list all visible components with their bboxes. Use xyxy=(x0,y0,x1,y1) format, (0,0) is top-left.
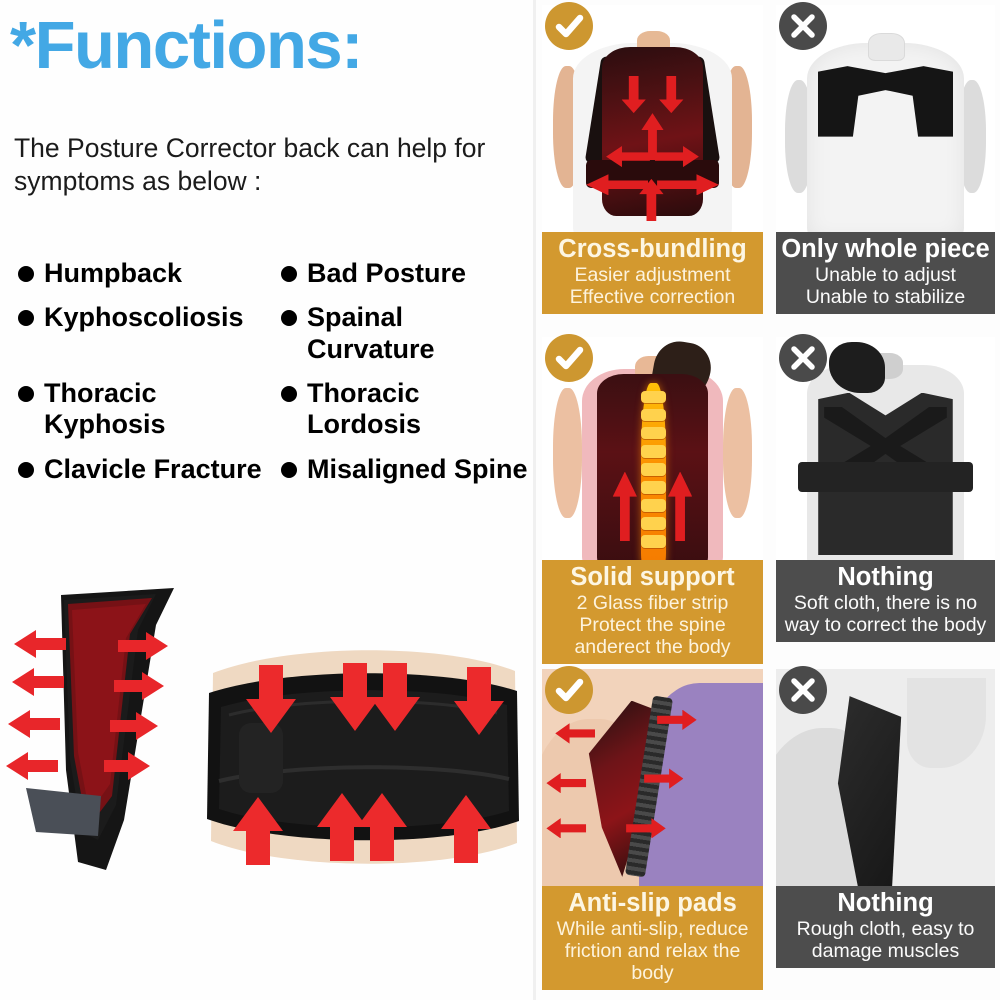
caption-title: Anti-slip pads xyxy=(546,889,759,918)
symptom-cell: Clavicle Fracture xyxy=(18,454,281,485)
panel-divider xyxy=(533,0,536,1000)
bullet-icon xyxy=(281,266,297,282)
symptom-label: Spainal Curvature xyxy=(307,302,538,365)
caption-title: Cross-bundling xyxy=(546,235,759,264)
comparison-row: Solid support 2 Glass fiber strip Protec… xyxy=(537,332,1000,664)
bullet-icon xyxy=(281,310,297,326)
caption-bad: Only whole piece Unable to adjust Unable… xyxy=(776,232,995,314)
comparison-cell-good: Cross-bundling Easier adjustment Effecti… xyxy=(537,0,768,332)
functions-panel: *Functions: The Posture Corrector back c… xyxy=(0,0,533,1000)
x-circle-icon xyxy=(779,334,827,382)
comparison-row: Cross-bundling Easier adjustment Effecti… xyxy=(537,0,1000,332)
product-image-lumbar-belt xyxy=(195,635,530,880)
bullet-icon xyxy=(18,310,34,326)
comparison-row: Anti-slip pads While anti-slip, reduce f… xyxy=(537,664,1000,1000)
comparison-cell-good: Anti-slip pads While anti-slip, reduce f… xyxy=(537,664,768,1000)
list-item: Clavicle Fracture Misaligned Spine xyxy=(18,454,538,485)
check-circle-icon xyxy=(545,334,593,382)
caption-subtext: Easier adjustment Effective correction xyxy=(546,264,759,308)
caption-good: Solid support 2 Glass fiber strip Protec… xyxy=(542,560,763,664)
symptom-cell: Kyphoscoliosis xyxy=(18,302,281,365)
list-item: Humpback Bad Posture xyxy=(18,258,538,289)
comparison-cell-good: Solid support 2 Glass fiber strip Protec… xyxy=(537,332,768,664)
bullet-icon xyxy=(18,386,34,402)
check-circle-icon xyxy=(545,2,593,50)
symptom-cell: Thoracic Lordosis xyxy=(281,378,538,441)
symptom-cell: Misaligned Spine xyxy=(281,454,538,485)
caption-subtext: Rough cloth, easy to damage muscles xyxy=(780,918,991,962)
symptom-label: Thoracic Lordosis xyxy=(307,378,421,441)
symptom-cell: Bad Posture xyxy=(281,258,538,289)
caption-good: Cross-bundling Easier adjustment Effecti… xyxy=(542,232,763,314)
symptom-label: Thoracic Kyphosis xyxy=(44,378,166,441)
caption-bad: Nothing Rough cloth, easy to damage musc… xyxy=(776,886,995,968)
caption-subtext: Soft cloth, there is no way to correct t… xyxy=(780,592,991,636)
comparison-cell-bad: Nothing Rough cloth, easy to damage musc… xyxy=(771,664,1000,1000)
symptom-list: Humpback Bad Posture Kyphoscoliosis Spai… xyxy=(18,258,538,498)
symptom-cell: Thoracic Kyphosis xyxy=(18,378,281,441)
symptom-label: Humpback xyxy=(44,258,182,289)
caption-subtext: While anti-slip, reduce friction and rel… xyxy=(546,918,759,985)
caption-title: Nothing xyxy=(780,563,991,592)
caption-subtext: Unable to adjust Unable to stabilize xyxy=(780,264,991,308)
x-circle-icon xyxy=(779,666,827,714)
caption-title: Nothing xyxy=(780,889,991,918)
caption-title: Only whole piece xyxy=(780,235,991,264)
bullet-icon xyxy=(18,462,34,478)
infographic-page: *Functions: The Posture Corrector back c… xyxy=(0,0,1000,1000)
bullet-icon xyxy=(281,386,297,402)
caption-subtext: 2 Glass fiber strip Protect the spine an… xyxy=(546,592,759,659)
comparison-grid: Cross-bundling Easier adjustment Effecti… xyxy=(537,0,1000,1000)
symptom-cell: Spainal Curvature xyxy=(281,302,538,365)
symptom-label: Misaligned Spine xyxy=(307,454,528,485)
caption-title: Solid support xyxy=(546,563,759,592)
caption-bad: Nothing Soft cloth, there is no way to c… xyxy=(776,560,995,642)
comparison-cell-bad: Only whole piece Unable to adjust Unable… xyxy=(771,0,1000,332)
intro-paragraph: The Posture Corrector back can help for … xyxy=(14,132,534,198)
symptom-label: Clavicle Fracture xyxy=(44,454,262,485)
symptom-cell: Humpback xyxy=(18,258,281,289)
list-item: Thoracic Kyphosis Thoracic Lordosis xyxy=(18,378,538,441)
check-circle-icon xyxy=(545,666,593,714)
comparison-cell-bad: Nothing Soft cloth, there is no way to c… xyxy=(771,332,1000,664)
bullet-icon xyxy=(281,462,297,478)
bullet-icon xyxy=(18,266,34,282)
symptom-label: Kyphoscoliosis xyxy=(44,302,244,333)
list-item: Kyphoscoliosis Spainal Curvature xyxy=(18,302,538,365)
page-title: *Functions: xyxy=(10,12,362,79)
caption-good: Anti-slip pads While anti-slip, reduce f… xyxy=(542,886,763,990)
product-image-brace-side xyxy=(6,570,201,890)
x-circle-icon xyxy=(779,2,827,50)
symptom-label: Bad Posture xyxy=(307,258,466,289)
